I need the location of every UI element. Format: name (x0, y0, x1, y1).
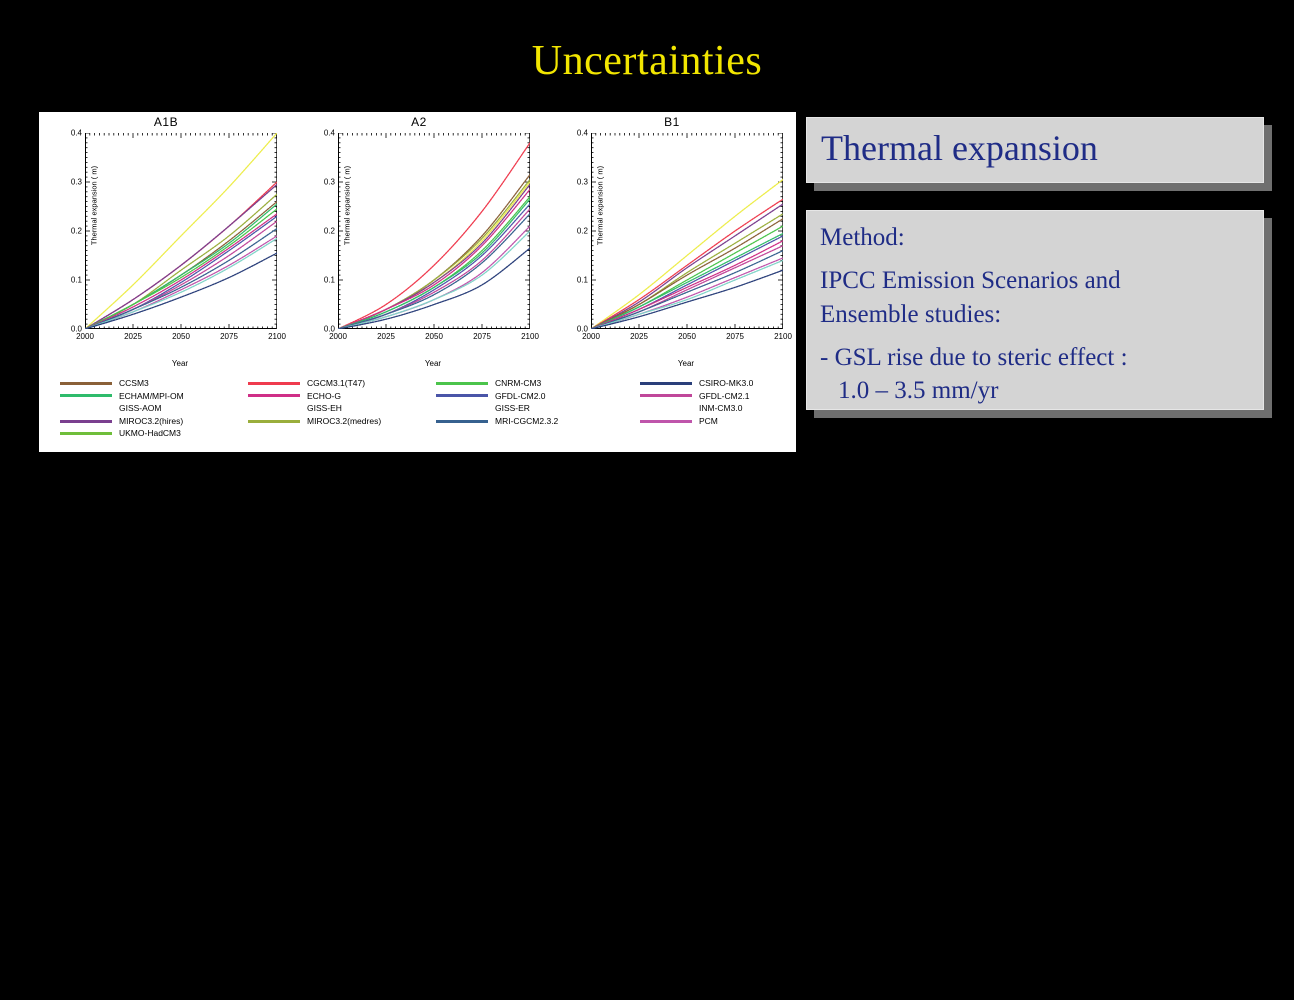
series-line (338, 248, 530, 329)
legend-label: INM-CM3.0 (699, 404, 742, 413)
legend-swatch (60, 382, 112, 385)
chart-row: A1BThermal expansion ( m)Year0.00.10.20.… (40, 113, 797, 375)
series-line (85, 194, 277, 329)
series-line (338, 209, 530, 329)
legend-swatch (436, 420, 488, 423)
legend-label: MRI-CGCM2.3.2 (495, 417, 558, 426)
legend-swatch (640, 382, 692, 385)
legend-column: CSIRO-MK3.0GFDL-CM2.1INM-CM3.0PCM (640, 377, 825, 427)
legend-label: UKMO-HadCM3 (119, 429, 181, 438)
legend-swatch (60, 394, 112, 397)
legend-label: MIROC3.2(hires) (119, 417, 183, 426)
y-tick-label: 0.3 (577, 178, 588, 187)
series-line (85, 204, 277, 329)
spacer (820, 331, 1253, 341)
plot-svg (85, 133, 277, 329)
y-tick-label: 0.3 (324, 178, 335, 187)
legend-item: GISS-EH (248, 402, 433, 415)
legend-item: GISS-ER (436, 402, 621, 415)
plot-area: 0.00.10.20.30.420002025205020752100 (338, 133, 530, 329)
x-tick-label: 2025 (124, 332, 142, 341)
legend-item: MRI-CGCM2.3.2 (436, 415, 621, 428)
legend-item: MIROC3.2(medres) (248, 415, 433, 428)
x-tick-label: 2100 (521, 332, 539, 341)
x-tick-label: 2075 (473, 332, 491, 341)
legend-item: ECHAM/MPI-OM (60, 390, 245, 403)
x-tick-label: 2000 (329, 332, 347, 341)
x-tick-label: 2075 (726, 332, 744, 341)
thermal-expansion-figure: A1BThermal expansion ( m)Year0.00.10.20.… (39, 112, 796, 452)
x-axis-label: Year (333, 359, 533, 368)
y-tick-label: 0.2 (324, 227, 335, 236)
legend-label: ECHO-G (307, 392, 341, 401)
spacer (820, 254, 1253, 264)
legend-item: ECHO-G (248, 390, 433, 403)
legend-item: CSIRO-MK3.0 (640, 377, 825, 390)
series-line (338, 180, 530, 329)
method-content: Method: IPCC Emission Scenarios and Ense… (820, 221, 1253, 407)
x-tick-label: 2050 (172, 332, 190, 341)
method-line-1: IPCC Emission Scenarios and (820, 264, 1253, 297)
legend-swatch (640, 394, 692, 397)
chart-legend: CCSM3ECHAM/MPI-OMGISS-AOMMIROC3.2(hires)… (40, 377, 797, 451)
x-tick-label: 2000 (582, 332, 600, 341)
x-tick-label: 2025 (630, 332, 648, 341)
legend-label: GISS-AOM (119, 404, 162, 413)
y-tick-label: 0.2 (577, 227, 588, 236)
legend-swatch (248, 394, 300, 397)
plot-svg (591, 133, 783, 329)
legend-label: CGCM3.1(T47) (307, 379, 365, 388)
chart-title: A2 (293, 115, 545, 129)
legend-item: CCSM3 (60, 377, 245, 390)
method-bullet-1: - GSL rise due to steric effect : (820, 341, 1253, 374)
legend-swatch (436, 407, 488, 410)
series-line (591, 180, 783, 329)
legend-item: UKMO-HadCM3 (60, 427, 245, 440)
method-line-2: Ensemble studies: (820, 298, 1253, 331)
legend-label: GFDL-CM2.1 (699, 392, 750, 401)
legend-item: MIROC3.2(hires) (60, 415, 245, 428)
legend-swatch (248, 382, 300, 385)
legend-label: ECHAM/MPI-OM (119, 392, 184, 401)
chart-title: B1 (546, 115, 798, 129)
legend-swatch (60, 407, 112, 410)
legend-swatch (436, 382, 488, 385)
series-line (85, 182, 277, 329)
legend-swatch (248, 407, 300, 410)
chart-title: A1B (40, 115, 292, 129)
thermal-expansion-heading: Thermal expansion (821, 124, 1098, 173)
x-tick-label: 2050 (678, 332, 696, 341)
chart-panel-b1: B1Thermal expansion ( m)Year0.00.10.20.3… (546, 113, 798, 375)
legend-swatch (60, 420, 112, 423)
page-title: Uncertainties (0, 40, 1294, 82)
x-axis-label: Year (80, 359, 280, 368)
legend-item: CGCM3.1(T47) (248, 377, 433, 390)
legend-column: CCSM3ECHAM/MPI-OMGISS-AOMMIROC3.2(hires)… (60, 377, 245, 440)
legend-item: GISS-AOM (60, 402, 245, 415)
method-box: Method: IPCC Emission Scenarios and Ense… (806, 210, 1264, 410)
legend-item: CNRM-CM3 (436, 377, 621, 390)
x-axis-label: Year (586, 359, 786, 368)
legend-swatch (640, 420, 692, 423)
legend-label: CSIRO-MK3.0 (699, 379, 753, 388)
legend-column: CGCM3.1(T47)ECHO-GGISS-EHMIROC3.2(medres… (248, 377, 433, 427)
y-tick-label: 0.4 (71, 129, 82, 138)
box-face: Method: IPCC Emission Scenarios and Ense… (806, 210, 1264, 410)
chart-panel-a2: A2Thermal expansion ( m)Year0.00.10.20.3… (293, 113, 545, 375)
method-label: Method: (820, 221, 1253, 254)
legend-column: CNRM-CM3GFDL-CM2.0GISS-ERMRI-CGCM2.3.2 (436, 377, 621, 427)
legend-item: GFDL-CM2.0 (436, 390, 621, 403)
y-tick-label: 0.4 (324, 129, 335, 138)
legend-label: CCSM3 (119, 379, 149, 388)
legend-item: INM-CM3.0 (640, 402, 825, 415)
legend-label: GFDL-CM2.0 (495, 392, 546, 401)
x-tick-label: 2050 (425, 332, 443, 341)
legend-item: GFDL-CM2.1 (640, 390, 825, 403)
legend-label: MIROC3.2(medres) (307, 417, 381, 426)
x-tick-label: 2100 (268, 332, 286, 341)
legend-label: GISS-EH (307, 404, 342, 413)
x-tick-label: 2025 (377, 332, 395, 341)
y-tick-label: 0.3 (71, 178, 82, 187)
x-tick-label: 2000 (76, 332, 94, 341)
plot-area: 0.00.10.20.30.420002025205020752100 (591, 133, 783, 329)
chart-panel-a1b: A1BThermal expansion ( m)Year0.00.10.20.… (40, 113, 292, 375)
method-bullet-1-value: 1.0 – 3.5 mm/yr (820, 374, 1253, 407)
legend-label: PCM (699, 417, 718, 426)
legend-swatch (640, 407, 692, 410)
legend-label: GISS-ER (495, 404, 530, 413)
series-line (338, 184, 530, 329)
thermal-expansion-heading-box: Thermal expansion (806, 117, 1264, 183)
legend-label: CNRM-CM3 (495, 379, 541, 388)
plot-area: 0.00.10.20.30.420002025205020752100 (85, 133, 277, 329)
legend-swatch (248, 420, 300, 423)
series-line (591, 204, 783, 329)
series-line (338, 175, 530, 329)
plot-svg (338, 133, 530, 329)
y-tick-label: 0.4 (577, 129, 588, 138)
y-tick-label: 0.1 (71, 276, 82, 285)
y-tick-label: 0.1 (324, 276, 335, 285)
legend-swatch (436, 394, 488, 397)
legend-swatch (60, 432, 112, 435)
box-face: Thermal expansion (806, 117, 1264, 183)
y-tick-label: 0.1 (577, 276, 588, 285)
legend-item: PCM (640, 415, 825, 428)
x-tick-label: 2075 (220, 332, 238, 341)
x-tick-label: 2100 (774, 332, 792, 341)
y-tick-label: 0.2 (71, 227, 82, 236)
series-line (338, 204, 530, 329)
